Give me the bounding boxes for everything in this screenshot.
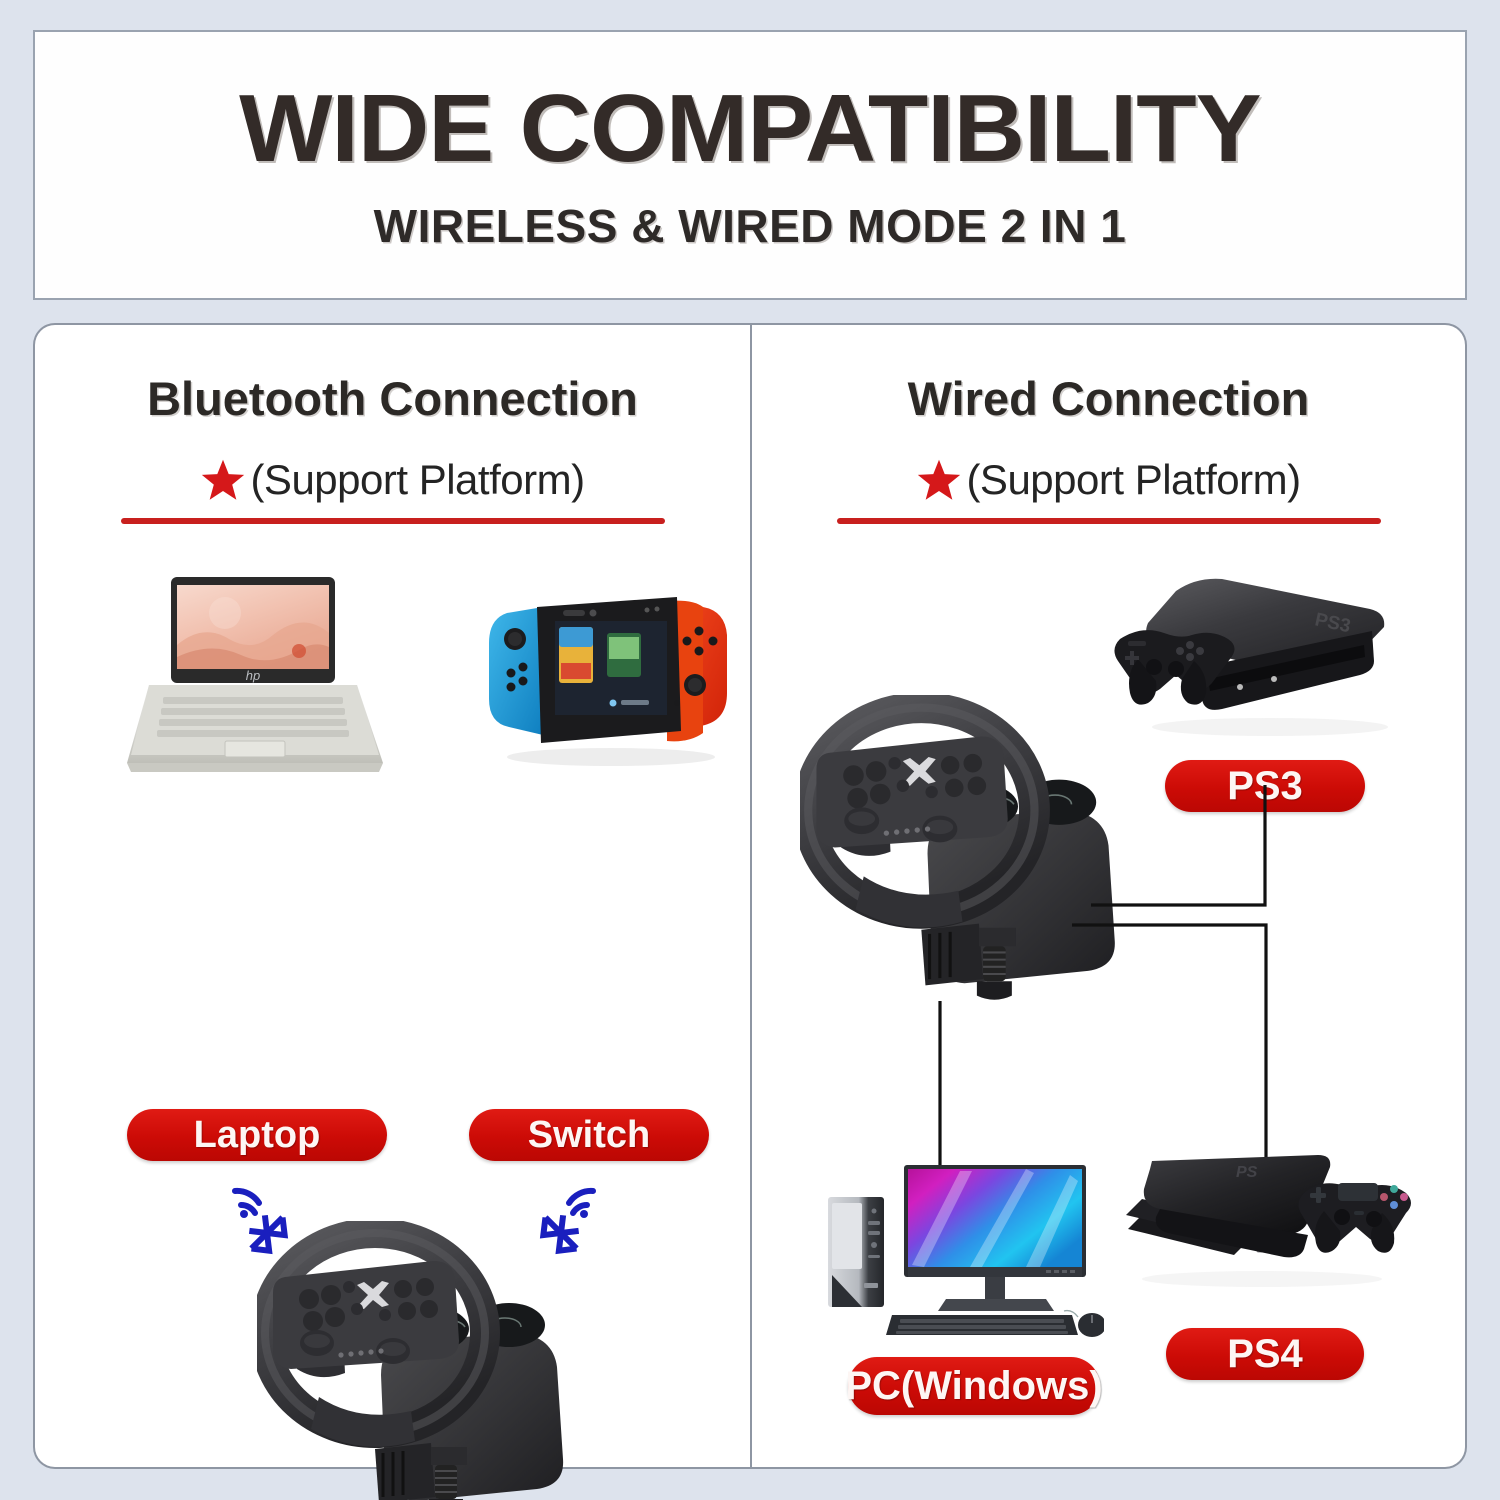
support-platform-label-bluetooth: (Support Platform) xyxy=(250,456,584,504)
svg-text:PS: PS xyxy=(1236,1164,1258,1181)
infographic-page: WIDE COMPATIBILITY WIRELESS & WIRED MODE… xyxy=(0,0,1500,1500)
badge-pc-windows[interactable]: PC(Windows) xyxy=(848,1357,1100,1415)
badge-laptop[interactable]: Laptop xyxy=(127,1109,387,1161)
header-banner: WIDE COMPATIBILITY WIRELESS & WIRED MODE… xyxy=(33,30,1467,300)
laptop-icon: hp xyxy=(121,573,385,778)
badge-ps4[interactable]: PS4 xyxy=(1166,1328,1364,1380)
ps4-console-icon: PS xyxy=(1112,1151,1422,1301)
panel-wired-connection: Wired Connection (Support Platform) xyxy=(751,323,1467,1469)
support-platform-row-wired: (Support Platform) xyxy=(752,456,1465,504)
support-platform-row-bluetooth: (Support Platform) xyxy=(35,456,750,504)
star-icon xyxy=(200,457,246,503)
star-icon xyxy=(916,457,962,503)
support-platform-label-wired: (Support Platform) xyxy=(966,456,1300,504)
panel-title-bluetooth: Bluetooth Connection xyxy=(35,371,750,426)
usb-cable-to-ps3-icon xyxy=(1091,785,1277,905)
svg-text:hp: hp xyxy=(246,668,260,683)
page-subtitle: WIRELESS & WIRED MODE 2 IN 1 xyxy=(374,203,1127,249)
nintendo-switch-icon xyxy=(471,577,747,773)
panel-bluetooth-connection: Bluetooth Connection (Support Platform) xyxy=(33,323,751,1469)
racing-wheel-icon xyxy=(257,1221,609,1500)
panel-title-wired: Wired Connection xyxy=(752,371,1465,426)
divider-rule-bluetooth xyxy=(121,518,665,524)
badge-switch[interactable]: Switch xyxy=(469,1109,709,1161)
desktop-pc-icon xyxy=(820,1155,1104,1355)
divider-rule-wired xyxy=(837,518,1381,524)
page-title: WIDE COMPATIBILITY xyxy=(239,81,1260,177)
